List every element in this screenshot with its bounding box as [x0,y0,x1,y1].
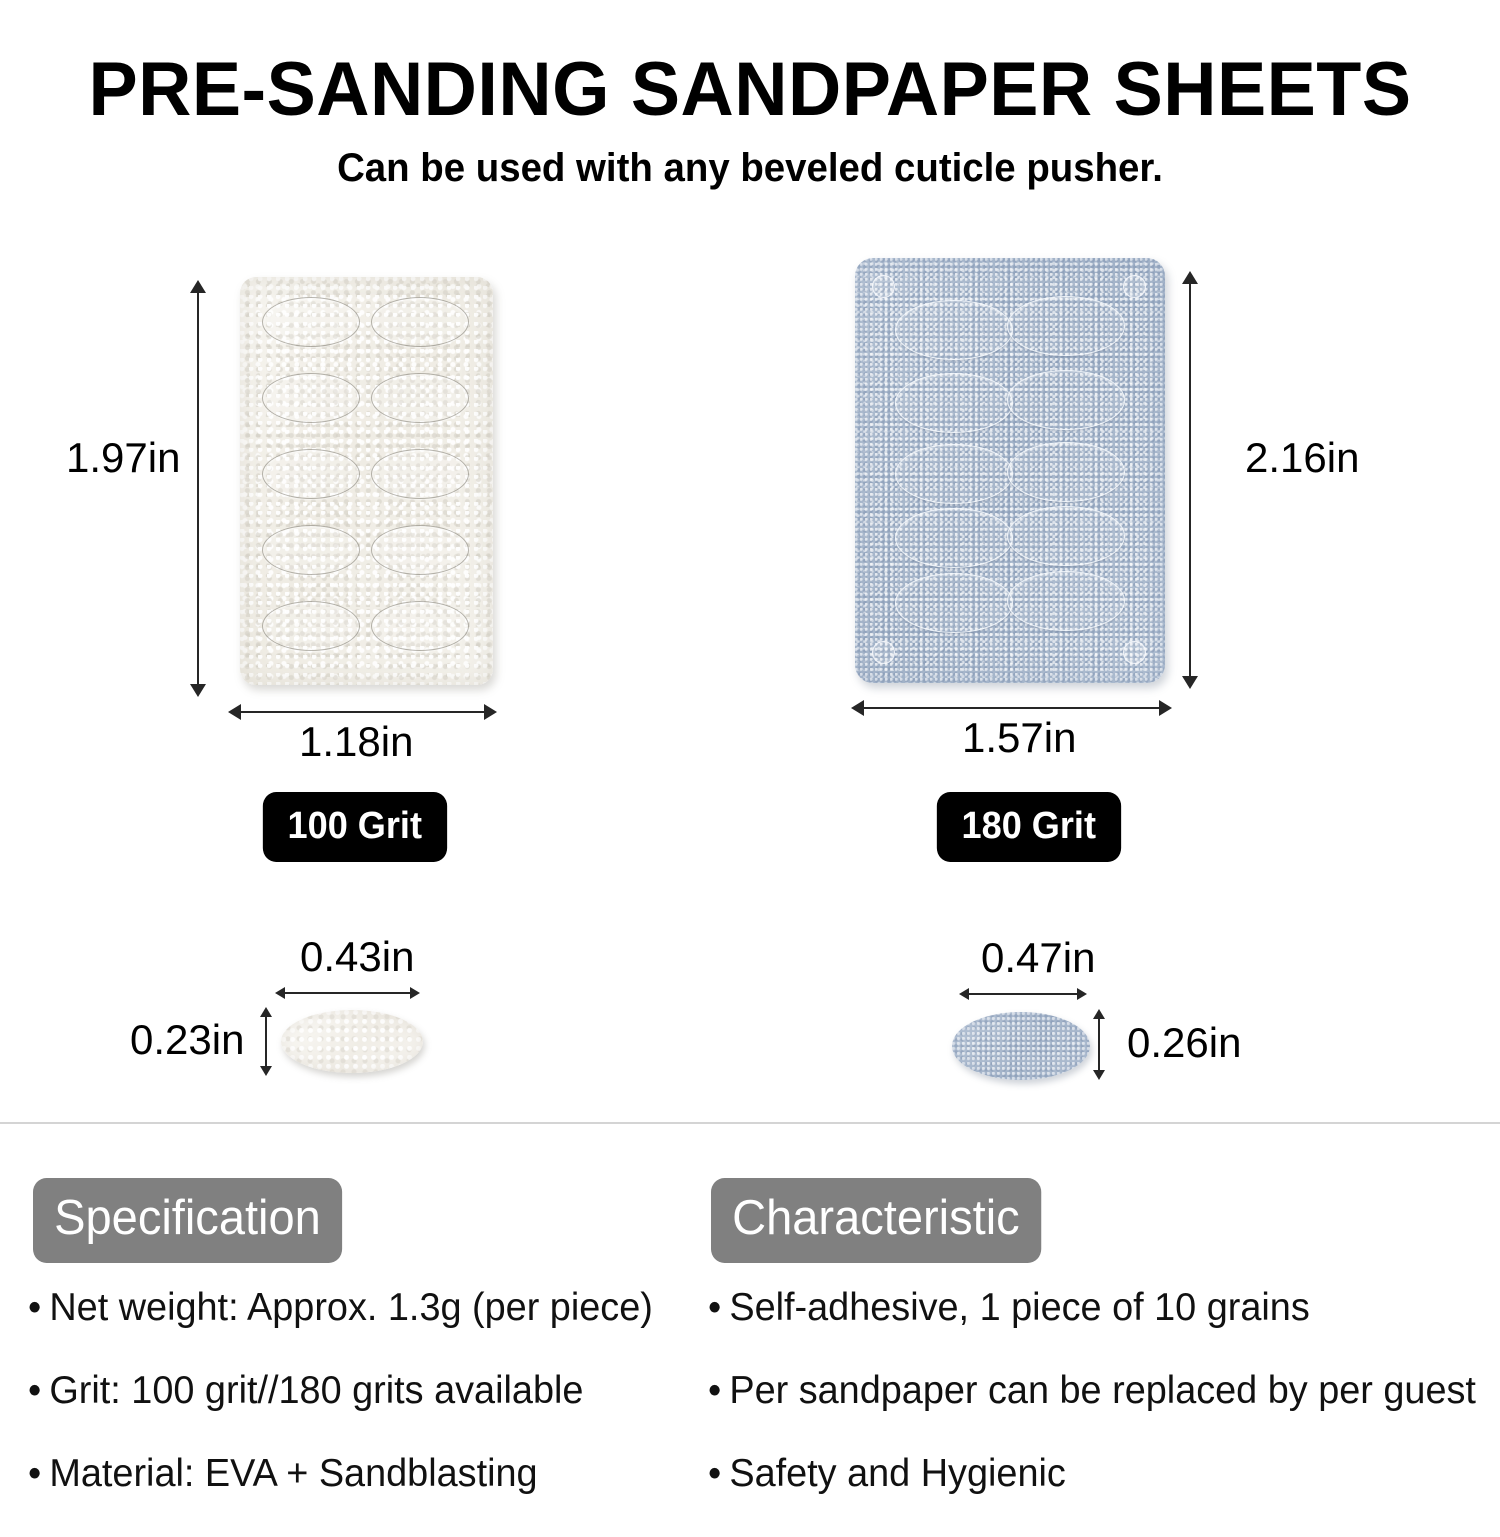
oval-cutout [895,508,1013,568]
single-oval-pad-100-grit [281,1010,423,1073]
arrowhead-left-width-left [228,704,241,720]
grit-badge-180: 180 Grit [937,792,1121,862]
oval-cutout [895,300,1013,360]
list-item: •Per sandpaper can be replaced by per gu… [708,1371,1476,1410]
page-title: PRE-SANDING SANDPAPER SHEETS [23,52,1478,128]
dimension-label-oval-width-left: 0.43in [300,936,414,978]
oval-cutout [1007,506,1125,566]
characteristic-heading: Characteristic [711,1178,1041,1263]
arrowhead-down-right-height [1182,676,1198,689]
section-divider [0,1122,1500,1124]
list-item: •Self-adhesive, 1 piece of 10 grains [708,1288,1476,1327]
arrowhead-down-oval-height-right [1093,1070,1105,1080]
arrowhead-right-width-right [1159,700,1172,716]
bullet-icon: • [28,1454,49,1493]
arrowhead-down-oval-height-left [260,1066,272,1076]
arrowhead-left-oval-width-right [959,988,969,1000]
arrowhead-down-left-height [190,684,206,697]
list-item-label: Net weight: Approx. 1.3g (per piece) [49,1286,653,1329]
arrowhead-up-oval-height-left [260,1007,272,1017]
dimension-line-width-left [239,711,487,713]
dimension-label-width-right: 1.57in [962,717,1076,759]
list-item-label: Safety and Hygienic [729,1452,1065,1495]
sandpaper-sheet-100-grit [240,277,493,685]
corner-circle-cutout [872,275,895,298]
grit-badge-100: 100 Grit [263,792,447,862]
oval-cutout [262,525,360,575]
oval-cutout [262,449,360,499]
dimension-label-width-left: 1.18in [299,721,413,763]
bullet-icon: • [708,1371,729,1410]
oval-cutout [895,444,1013,504]
list-item: •Net weight: Approx. 1.3g (per piece) [28,1288,653,1327]
oval-cutout [1007,370,1125,430]
oval-cutout [895,373,1013,433]
list-item-label: Material: EVA + Sandblasting [49,1452,537,1495]
list-item: •Material: EVA + Sandblasting [28,1454,653,1493]
list-item-label: Per sandpaper can be replaced by per gue… [729,1369,1476,1412]
dimension-label-oval-width-right: 0.47in [981,937,1095,979]
oval-cutout [262,373,360,423]
arrowhead-left-width-right [851,700,864,716]
list-item-label: Self-adhesive, 1 piece of 10 grains [729,1286,1309,1329]
oval-cutout [895,573,1013,633]
dimension-label-height-left: 1.97in [66,437,180,479]
sandpaper-sheet-180-grit [855,258,1165,683]
dimension-line-oval-width-left [284,992,414,994]
oval-cutout [371,449,469,499]
arrowhead-right-oval-width-right [1077,988,1087,1000]
arrowhead-up-right-height [1182,271,1198,284]
oval-cutout [371,373,469,423]
arrowhead-right-oval-width-left [410,987,420,999]
dimension-line-width-right [862,707,1162,709]
oval-cutout [1007,442,1125,502]
oval-cutout [371,525,469,575]
specification-heading: Specification [33,1178,342,1263]
list-item: •Grit: 100 grit//180 grits available [28,1371,653,1410]
bullet-icon: • [708,1454,729,1493]
oval-cutout [1007,571,1125,631]
list-item-label: Grit: 100 grit//180 grits available [49,1369,583,1412]
dimension-label-oval-height-right: 0.26in [1127,1022,1241,1064]
dimension-label-oval-height-left: 0.23in [130,1019,244,1061]
arrowhead-left-oval-width-left [275,987,285,999]
dimension-line-oval-height-left [265,1015,267,1068]
corner-circle-cutout [1123,275,1146,298]
arrowhead-up-left-height [190,280,206,293]
oval-cutout [1007,296,1125,356]
arrowhead-right-width-left [484,704,497,720]
bullet-icon: • [28,1371,49,1410]
dimension-line-oval-height-right [1098,1017,1100,1072]
bullet-icon: • [28,1288,49,1327]
dimension-line-oval-width-right [968,993,1080,995]
oval-cutout [371,297,469,347]
list-item: •Safety and Hygienic [708,1454,1476,1493]
dimension-label-height-right: 2.16in [1245,437,1359,479]
oval-cutout [262,297,360,347]
dimension-line-height-left [197,290,199,690]
page-subtitle: Can be used with any beveled cuticle pus… [30,148,1470,188]
corner-circle-cutout [1123,641,1146,664]
corner-circle-cutout [872,641,895,664]
oval-cutout [262,601,360,651]
bullet-icon: • [708,1288,729,1327]
arrowhead-up-oval-height-right [1093,1009,1105,1019]
single-oval-pad-180-grit [952,1012,1090,1080]
dimension-line-height-right [1189,282,1191,682]
oval-cutout [371,601,469,651]
